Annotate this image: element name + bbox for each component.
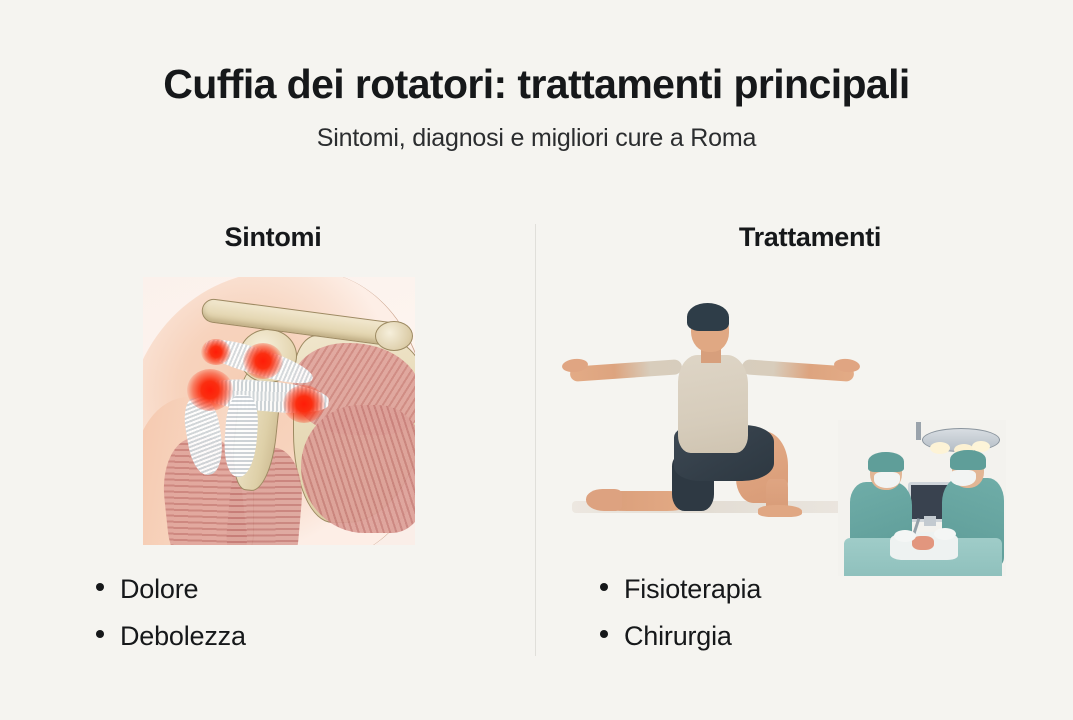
hair — [687, 303, 729, 331]
inflammation-spot-left — [187, 369, 233, 411]
column-heading-trattamenti: Trattamenti — [545, 222, 1053, 253]
tshirt-torso — [678, 355, 748, 453]
bullet-label: Fisioterapia — [624, 574, 761, 605]
bullet-dot-icon — [96, 583, 104, 591]
bullet-list-trattamenti: Fisioterapia Chirurgia — [600, 574, 761, 668]
front-foot — [758, 505, 802, 517]
page-title: Cuffia dei rotatori: trattamenti princip… — [0, 62, 1073, 108]
bullet-dot-icon — [96, 630, 104, 638]
list-item: Debolezza — [96, 621, 246, 652]
bullet-label: Debolezza — [120, 621, 246, 652]
surgeon-left-cap — [868, 452, 904, 472]
infographic-poster: Cuffia dei rotatori: trattamenti princip… — [0, 0, 1073, 720]
list-item: Fisioterapia — [600, 574, 761, 605]
acromion-bone — [375, 321, 413, 351]
column-sintomi: Sintomi — [20, 222, 520, 253]
bullet-label: Chirurgia — [624, 621, 732, 652]
bullet-dot-icon — [600, 630, 608, 638]
gloved-hand — [894, 530, 916, 542]
monitor-stand — [924, 516, 936, 526]
lamp-pole — [916, 422, 921, 440]
surgeon-right-cap — [950, 450, 986, 470]
back-foot — [586, 489, 622, 511]
bullet-dot-icon — [600, 583, 608, 591]
inflammation-spot-top — [201, 339, 231, 365]
bullet-list-sintomi: Dolore Debolezza — [96, 574, 246, 668]
list-item: Chirurgia — [600, 621, 761, 652]
inflammation-spot-right — [283, 385, 325, 423]
lamp-bulb — [930, 442, 950, 454]
column-trattamenti: Trattamenti — [545, 222, 1053, 253]
surgery-room-illustration — [838, 420, 1006, 576]
inflammation-spot-center — [243, 343, 283, 379]
gloved-hand — [934, 528, 956, 540]
surgeon-left-mask — [874, 472, 900, 488]
column-heading-sintomi: Sintomi — [20, 222, 520, 253]
bullet-label: Dolore — [120, 574, 198, 605]
yoga-lunge-illustration — [560, 283, 860, 528]
page-subtitle: Sintomi, diagnosi e migliori cure a Roma — [0, 124, 1073, 153]
surgeon-right-mask — [950, 470, 976, 486]
shoulder-anatomy-illustration — [143, 277, 415, 545]
header: Cuffia dei rotatori: trattamenti princip… — [0, 62, 1073, 153]
column-divider — [535, 224, 536, 656]
list-item: Dolore — [96, 574, 246, 605]
